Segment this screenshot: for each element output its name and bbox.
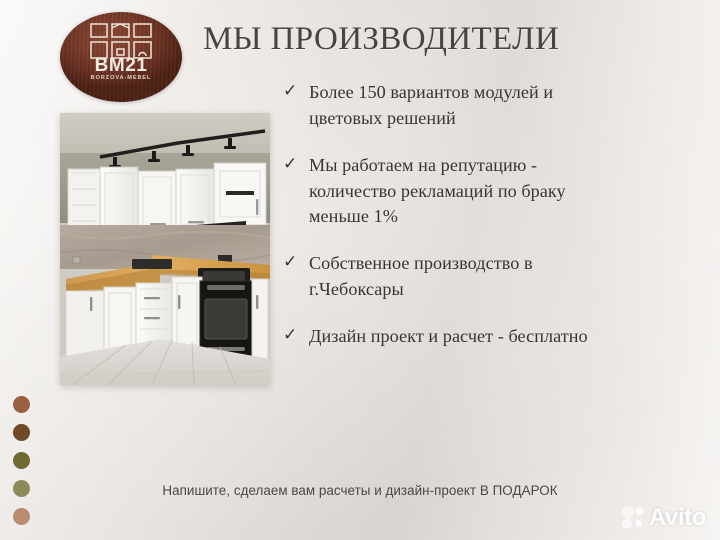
slide-root: BM21 BORZOVA-MEBEL МЫ ПРОИЗВОДИТЕЛИ xyxy=(0,0,720,540)
benefits-list: ✓ Более 150 вариантов модулей и цветовых… xyxy=(283,80,628,371)
kitchen-photo xyxy=(60,113,270,385)
cabinet-shelves-icon xyxy=(90,23,152,59)
list-item-label: Более 150 вариантов модулей и цветовых р… xyxy=(309,80,628,132)
logo-wordmark: BM21 xyxy=(60,56,182,75)
list-item: ✓ Дизайн проект и расчет - бесплатно xyxy=(283,324,628,350)
list-item: ✓ Собственное производство в г.Чебоксары xyxy=(283,251,628,303)
list-item-label: Собственное производство в г.Чебоксары xyxy=(309,251,628,303)
avito-dots-icon xyxy=(621,505,646,530)
avito-label: Avito xyxy=(649,506,706,530)
decor-dot xyxy=(13,508,30,525)
kitchen-photo-illustration xyxy=(60,113,270,385)
avito-watermark: Avito xyxy=(621,505,706,530)
list-item: ✓ Мы работаем на репутацию - количество … xyxy=(283,153,628,231)
list-item-label: Мы работаем на репутацию - количество ре… xyxy=(309,153,628,231)
brand-logo[interactable]: BM21 BORZOVA-MEBEL xyxy=(60,12,182,102)
page-title: МЫ ПРОИЗВОДИТЕЛИ xyxy=(203,21,559,58)
check-icon: ✓ xyxy=(283,153,309,173)
check-icon: ✓ xyxy=(283,324,309,344)
check-icon: ✓ xyxy=(283,80,309,100)
list-item: ✓ Более 150 вариантов модулей и цветовых… xyxy=(283,80,628,132)
decor-dot xyxy=(13,452,30,469)
decor-dot xyxy=(13,396,30,413)
logo-subtitle: BORZOVA-MEBEL xyxy=(60,76,182,82)
decor-dot xyxy=(13,424,30,441)
check-icon: ✓ xyxy=(283,251,309,271)
list-item-label: Дизайн проект и расчет - бесплатно xyxy=(309,324,628,350)
footer-cta: Напишите, сделаем вам расчеты и дизайн-п… xyxy=(0,483,720,498)
